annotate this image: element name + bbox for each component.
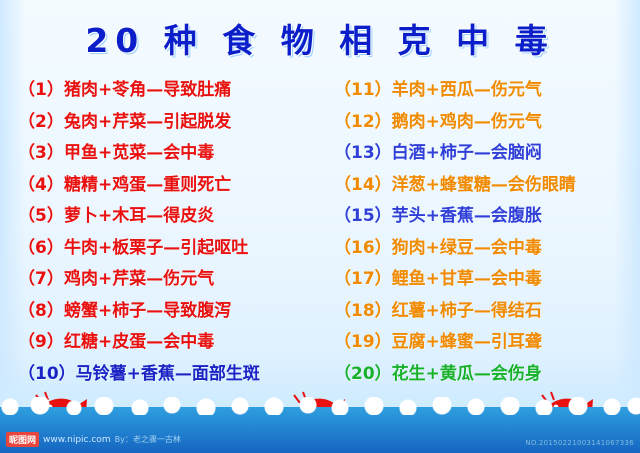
wave-foam <box>0 397 640 415</box>
list-item: （9） 红糖+皮蛋—会中毒 <box>18 324 324 356</box>
item-number: （18） <box>334 296 392 321</box>
list-item: （17） 鲤鱼+甘草—会中毒 <box>334 261 640 293</box>
list-item: （2） 兔肉+芹菜—引起脱发 <box>18 104 324 136</box>
item-number: （5） <box>18 201 64 226</box>
list-item: （15） 芋头+香蕉—会腹胀 <box>334 198 640 230</box>
item-text: 红糖+皮蛋—会中毒 <box>64 327 214 352</box>
item-text: 鸡肉+芹菜—伤元气 <box>64 264 214 289</box>
item-text: 猪肉+苓角—导致肚痛 <box>64 75 231 100</box>
watermark-left: 昵图网 www.nipic.com By：老之骤一古林 <box>6 432 181 447</box>
list-item: （5） 萝卜+木耳—得皮炎 <box>18 198 324 230</box>
item-number: （19） <box>334 327 392 352</box>
poster-canvas: 20 种 食 物 相 克 中 毒 （1） 猪肉+苓角—导致肚痛 （2） 兔肉+芹… <box>0 0 640 453</box>
item-text: 芋头+香蕉—会腹胀 <box>392 201 542 226</box>
item-number: （17） <box>334 264 392 289</box>
item-text: 羊肉+西瓜—伤元气 <box>392 75 542 100</box>
list-item: （4） 糖精+鸡蛋—重则死亡 <box>18 167 324 199</box>
list-item: （14） 洋葱+蜂蜜糖—会伤眼睛 <box>334 167 640 199</box>
list-item: （13） 白酒+柿子—会脑闷 <box>334 135 640 167</box>
item-number: （3） <box>18 138 64 163</box>
item-text: 白酒+柿子—会脑闷 <box>392 138 542 163</box>
item-text: 兔肉+芹菜—引起脱发 <box>64 107 231 132</box>
item-text: 马铃薯+香蕉—面部生斑 <box>76 359 260 384</box>
item-number: （6） <box>18 233 64 258</box>
list-item: （11） 羊肉+西瓜—伤元气 <box>334 72 640 104</box>
item-number: （12） <box>334 107 392 132</box>
list-item: （1） 猪肉+苓角—导致肚痛 <box>18 72 324 104</box>
item-number: （16） <box>334 233 392 258</box>
wave-band: 昵图网 www.nipic.com By：老之骤一古林 NO.201502210… <box>0 407 640 453</box>
item-text: 花生+黄瓜—会伤身 <box>392 359 542 384</box>
list-item: （7） 鸡肉+芹菜—伤元气 <box>18 261 324 293</box>
list-item: （8） 螃蟹+柿子—导致腹泻 <box>18 293 324 325</box>
page-title: 20 种 食 物 相 克 中 毒 <box>85 14 554 62</box>
item-number: （4） <box>18 170 64 195</box>
left-column: （1） 猪肉+苓角—导致肚痛 （2） 兔肉+芹菜—引起脱发 （3） 甲鱼+苋菜—… <box>0 72 324 392</box>
item-number: （10） <box>18 359 76 384</box>
item-text: 螃蟹+柿子—导致腹泻 <box>64 296 231 321</box>
list-item: （12） 鹅肉+鸡肉—伤元气 <box>334 104 640 136</box>
list-item: （6） 牛肉+板栗子—引起呕吐 <box>18 230 324 262</box>
item-number: （14） <box>334 170 392 195</box>
item-number: （20） <box>334 359 392 384</box>
list-item: （18） 红薯+柿子—得结石 <box>334 293 640 325</box>
item-number: （1） <box>18 75 64 100</box>
title-area: 20 种 食 物 相 克 中 毒 <box>0 14 640 62</box>
item-text: 鹅肉+鸡肉—伤元气 <box>392 107 542 132</box>
item-number: （11） <box>334 75 392 100</box>
author-credit: By：老之骤一古林 <box>115 434 181 445</box>
list-item: （3） 甲鱼+苋菜—会中毒 <box>18 135 324 167</box>
list-item: （10） 马铃薯+香蕉—面部生斑 <box>18 356 324 388</box>
item-number: （7） <box>18 264 64 289</box>
image-code: NO.20150221003141067336 <box>525 439 634 447</box>
site-url: www.nipic.com <box>43 435 111 445</box>
item-text: 狗肉+绿豆—会中毒 <box>392 233 542 258</box>
item-number: （2） <box>18 107 64 132</box>
list-columns: （1） 猪肉+苓角—导致肚痛 （2） 兔肉+芹菜—引起脱发 （3） 甲鱼+苋菜—… <box>0 72 640 392</box>
item-number: （13） <box>334 138 392 163</box>
list-item: （19） 豆腐+蜂蜜—引耳聋 <box>334 324 640 356</box>
item-text: 萝卜+木耳—得皮炎 <box>64 201 214 226</box>
item-number: （15） <box>334 201 392 226</box>
item-text: 牛肉+板栗子—引起呕吐 <box>64 233 248 258</box>
item-text: 洋葱+蜂蜜糖—会伤眼睛 <box>392 170 576 195</box>
item-text: 甲鱼+苋菜—会中毒 <box>64 138 214 163</box>
list-item: （20） 花生+黄瓜—会伤身 <box>334 356 640 388</box>
item-text: 糖精+鸡蛋—重则死亡 <box>64 170 231 195</box>
item-number: （9） <box>18 327 64 352</box>
item-text: 豆腐+蜂蜜—引耳聋 <box>392 327 542 352</box>
item-text: 红薯+柿子—得结石 <box>392 296 542 321</box>
item-number: （8） <box>18 296 64 321</box>
item-text: 鲤鱼+甘草—会中毒 <box>392 264 542 289</box>
site-logo: 昵图网 <box>6 432 39 447</box>
list-item: （16） 狗肉+绿豆—会中毒 <box>334 230 640 262</box>
right-column: （11） 羊肉+西瓜—伤元气 （12） 鹅肉+鸡肉—伤元气 （13） 白酒+柿子… <box>324 72 640 392</box>
